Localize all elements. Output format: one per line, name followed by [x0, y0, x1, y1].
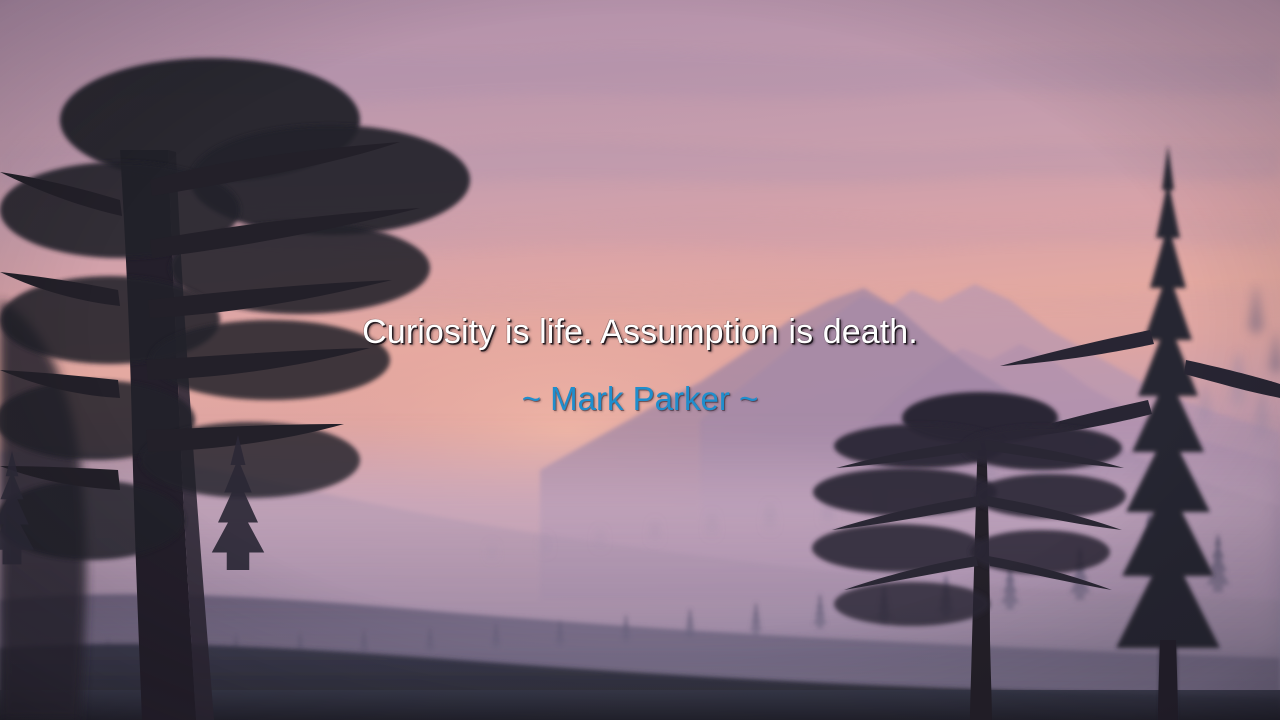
vignette: [0, 0, 1280, 720]
wallpaper-stage: Curiosity is life. Assumption is death. …: [0, 0, 1280, 720]
landscape-photograph: [0, 0, 1280, 720]
